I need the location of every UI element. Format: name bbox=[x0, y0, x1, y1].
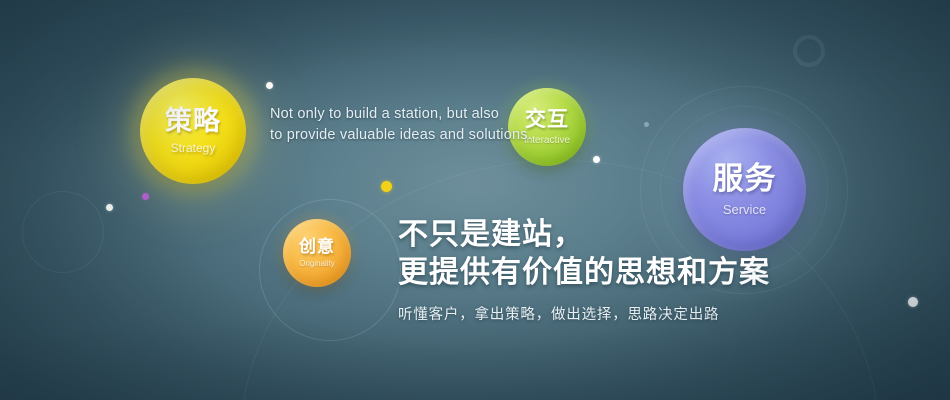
decorative-ring-top-right bbox=[793, 35, 825, 67]
bubble-strategy[interactable]: 策略 Strategy bbox=[140, 78, 246, 184]
decorative-dot-white-4 bbox=[908, 297, 918, 307]
decorative-dot-faint bbox=[644, 122, 649, 127]
bubble-originality-label-cn: 创意 bbox=[299, 238, 335, 255]
headline-line-1: 不只是建站， bbox=[398, 216, 770, 254]
bubble-originality-label-en: Originality bbox=[299, 260, 335, 268]
bubble-strategy-label-cn: 策略 bbox=[165, 108, 221, 135]
decorative-dot-white-3 bbox=[593, 156, 600, 163]
bubble-service-label-en: Service bbox=[723, 203, 766, 216]
decorative-ring-left bbox=[22, 191, 104, 273]
headline-line-2: 更提供有价值的思想和方案 bbox=[398, 254, 770, 292]
decorative-dot-white-2 bbox=[106, 204, 113, 211]
background-vignette bbox=[0, 0, 950, 400]
bubble-service-label-cn: 服务 bbox=[713, 163, 777, 194]
background-top-shading bbox=[0, 0, 950, 400]
bubble-originality[interactable]: 创意 Originality bbox=[283, 219, 351, 287]
decorative-dot-white-1 bbox=[266, 82, 273, 89]
decorative-dot-purple bbox=[142, 193, 149, 200]
decorative-dot-yellow bbox=[381, 181, 392, 192]
bubble-strategy-label-en: Strategy bbox=[171, 142, 216, 154]
headline-subtitle: 听懂客户，拿出策略，做出选择，思路决定出路 bbox=[398, 303, 770, 324]
headline-block: 不只是建站， 更提供有价值的思想和方案 听懂客户，拿出策略，做出选择，思路决定出… bbox=[398, 216, 770, 324]
intro-copy: Not only to build a station, but also to… bbox=[270, 104, 532, 145]
hero-banner: 策略 Strategy 交互 Interactive 创意 Originalit… bbox=[0, 0, 950, 400]
